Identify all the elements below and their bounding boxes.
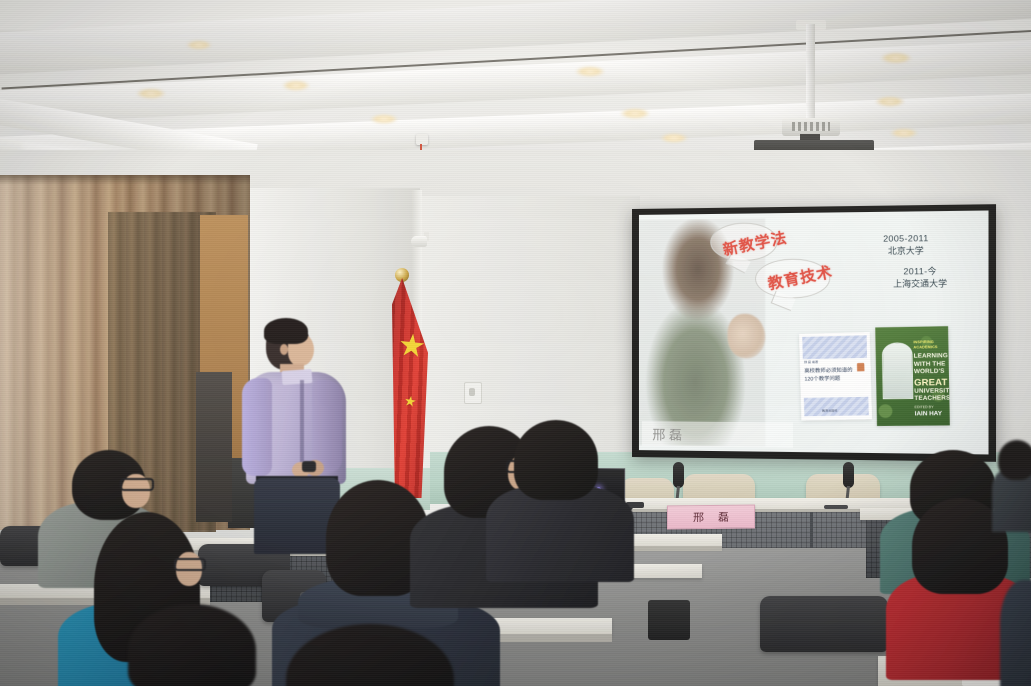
- affiliation-years: 2011-今: [867, 265, 974, 278]
- book-publisher: 教育出版社: [822, 409, 838, 413]
- audience-hair: [128, 604, 256, 686]
- waste-bin: [648, 600, 690, 640]
- book-title-english: LEARNING WITH THE WORLD'S GREAT UNIVERSI…: [913, 353, 947, 404]
- presenter-hair: [264, 318, 308, 344]
- book-title-line-1: LEARNING: [913, 353, 946, 361]
- name-card: 邢 磊: [667, 505, 755, 530]
- audience-member: [286, 624, 476, 686]
- security-camera: [411, 232, 433, 248]
- audience-hair: [286, 624, 454, 686]
- book-editor-block: EDITED BY IAIN HAY: [914, 404, 947, 419]
- downlight: [136, 88, 166, 99]
- projector-pole: [806, 24, 815, 120]
- glasses-icon: [120, 478, 154, 491]
- slide-affiliation-1: 2005-2011 北京大学: [853, 233, 960, 258]
- downlight: [660, 133, 688, 143]
- classroom-chair[interactable]: [760, 596, 888, 652]
- book-editor-label: EDITED BY: [914, 404, 947, 410]
- book-pattern-band: [802, 334, 867, 358]
- book-title-line-4: GREAT: [914, 376, 947, 388]
- slide-affiliation-2: 2011-今 上海交通大学: [867, 265, 974, 290]
- presenter-ear: [280, 344, 288, 355]
- audience-member: [992, 440, 1031, 530]
- downlight: [370, 114, 398, 124]
- audience-head: [514, 420, 598, 500]
- downlight: [880, 52, 912, 64]
- classroom-photo: ★ ★ 新教学法 教育技术 2005-2011 北京大学 2011-今 上海: [0, 0, 1031, 686]
- book-cover-english: INSPIRING ACADEMICS LEARNING WITH THE WO…: [875, 326, 950, 426]
- book-title-line-2: WITH THE: [913, 360, 946, 368]
- audience-torso: [1000, 580, 1031, 686]
- audience-torso: [486, 486, 634, 582]
- downlight: [875, 96, 905, 107]
- affiliation-organization: 上海交通大学: [867, 278, 974, 291]
- book-title-line-1: 高校教师必须知道的: [804, 367, 856, 376]
- presenter-right-arm: [312, 380, 342, 472]
- slide-presenter-name-bar: 邢磊: [642, 421, 793, 449]
- cable: [824, 505, 848, 509]
- affiliation-years: 2005-2011: [853, 233, 960, 246]
- flag-star-large-icon: ★: [396, 329, 427, 363]
- sprinkler-head-icon: [416, 134, 428, 145]
- presentation-slide: 新教学法 教育技术 2005-2011 北京大学 2011-今 上海交通大学 邢…: [639, 210, 989, 454]
- glasses-icon: [174, 558, 206, 571]
- downlight: [575, 66, 605, 77]
- projection-screen-surface: 新教学法 教育技术 2005-2011 北京大学 2011-今 上海交通大学 邢…: [639, 210, 989, 454]
- camera-body-icon: [411, 236, 427, 247]
- book-kicker: INSPIRING ACADEMICS: [913, 340, 945, 351]
- audience-member: [486, 420, 636, 580]
- presenter-left-arm: [242, 378, 272, 476]
- presenter-collar: [282, 369, 313, 385]
- microphone-head-icon: [673, 462, 684, 488]
- book-title-line-6: TEACHERS: [914, 395, 947, 403]
- presentation-clicker[interactable]: [302, 461, 316, 472]
- curtain-rod-shadow: [0, 175, 250, 185]
- book-window-illustration: [881, 342, 913, 399]
- slide-presenter-name: 邢磊: [642, 424, 685, 444]
- book-editor-name: IAIN HAY: [914, 410, 941, 416]
- book-byline: 邢 磊 编著: [804, 360, 818, 364]
- book-cover-chinese: 邢 磊 编著 高校教师必须知道的 120个教学问题 教育出版社: [799, 332, 872, 420]
- name-card-text: 邢 磊: [687, 509, 734, 525]
- affiliation-organization: 北京大学: [853, 245, 960, 258]
- slide-speaker-hand: [727, 313, 765, 358]
- wall-switch-toggle-icon: [469, 388, 475, 396]
- audience-head: [998, 440, 1031, 480]
- book-title-line-5: UNIVERSITY: [914, 388, 947, 396]
- wall-dark-recess: [196, 372, 232, 522]
- microphone-head-icon: [843, 462, 854, 488]
- downlight: [282, 80, 310, 91]
- audience-member: [118, 604, 278, 686]
- audience-member: [1000, 556, 1031, 686]
- book-title-chinese: 高校教师必须知道的 120个教学问题: [804, 367, 856, 384]
- book-title-line-2: 120个教学问题: [804, 375, 856, 384]
- book-emblem-icon: [857, 363, 864, 371]
- downlight: [186, 40, 212, 50]
- flag-star-small-icon: ★: [403, 393, 418, 409]
- projection-screen[interactable]: 新教学法 教育技术 2005-2011 北京大学 2011-今 上海交通大学 邢…: [632, 204, 996, 462]
- downlight: [620, 108, 650, 119]
- downlight: [890, 128, 918, 138]
- book-title-line-3: WORLD'S: [913, 368, 946, 376]
